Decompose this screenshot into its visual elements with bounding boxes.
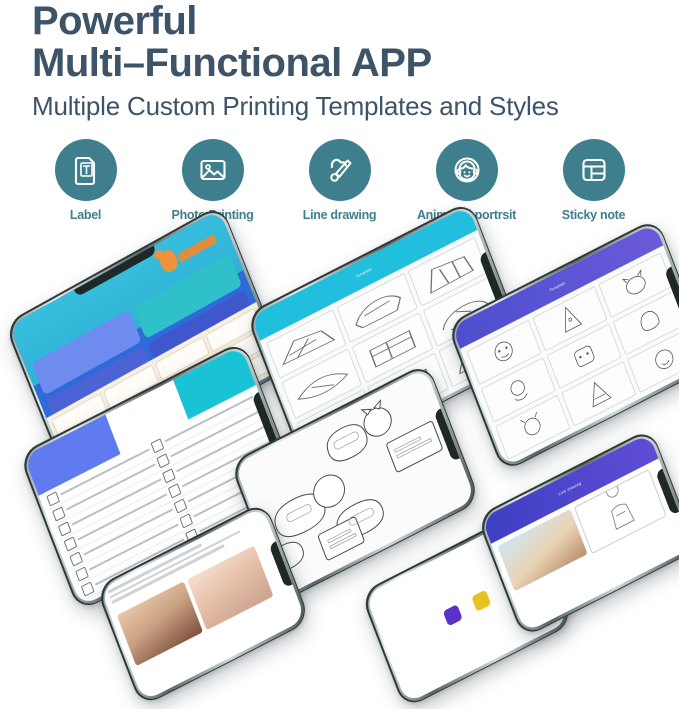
feature-icon-row: Label Photo Printing Line drawing <box>0 139 679 231</box>
brand-logo <box>177 234 217 263</box>
template-icon <box>161 468 175 483</box>
template-icon <box>179 513 193 528</box>
compare-header-title: Line drawing <box>558 480 582 496</box>
template-icon <box>173 498 187 513</box>
label-document-icon <box>55 139 117 201</box>
feature-label-text: Sticky note <box>562 208 625 222</box>
headline-block: Powerful Multi–Functional APP Multiple C… <box>32 0 652 122</box>
template-icon <box>52 506 66 521</box>
page-subtitle: Multiple Custom Printing Templates and S… <box>32 91 652 122</box>
template-icon <box>150 438 164 453</box>
template-icon <box>46 491 60 506</box>
feature-item-sticky-note[interactable]: Sticky note <box>535 139 653 222</box>
layout-grid-icon <box>563 139 625 201</box>
template-icon <box>167 483 181 498</box>
template-icon <box>156 453 170 468</box>
face-portrait-icon <box>436 139 498 201</box>
paintbrush-icon <box>309 139 371 201</box>
template-icon <box>58 521 72 536</box>
character-header-title: Template <box>548 279 566 292</box>
feature-item-line-drawing[interactable]: Line drawing <box>281 139 399 222</box>
template-icon <box>69 551 83 566</box>
shortcut-icon-purple[interactable] <box>443 604 463 626</box>
template-icon <box>75 566 89 581</box>
headline-line-2: Multi–Functional APP <box>32 42 652 84</box>
mascot-icon <box>158 247 181 275</box>
headline-line-1: Powerful <box>32 0 652 42</box>
feature-label-text: Label <box>70 208 101 222</box>
promo-page: Powerful Multi–Functional APP Multiple C… <box>0 0 679 650</box>
gallery-header-title: Template <box>355 267 373 280</box>
photo-image-icon <box>182 139 244 201</box>
template-icon <box>81 581 95 596</box>
template-icon <box>63 536 77 551</box>
feature-item-label[interactable]: Label <box>27 139 145 222</box>
shortcut-icon-yellow[interactable] <box>471 590 491 612</box>
feature-label-text: Line drawing <box>303 208 377 222</box>
